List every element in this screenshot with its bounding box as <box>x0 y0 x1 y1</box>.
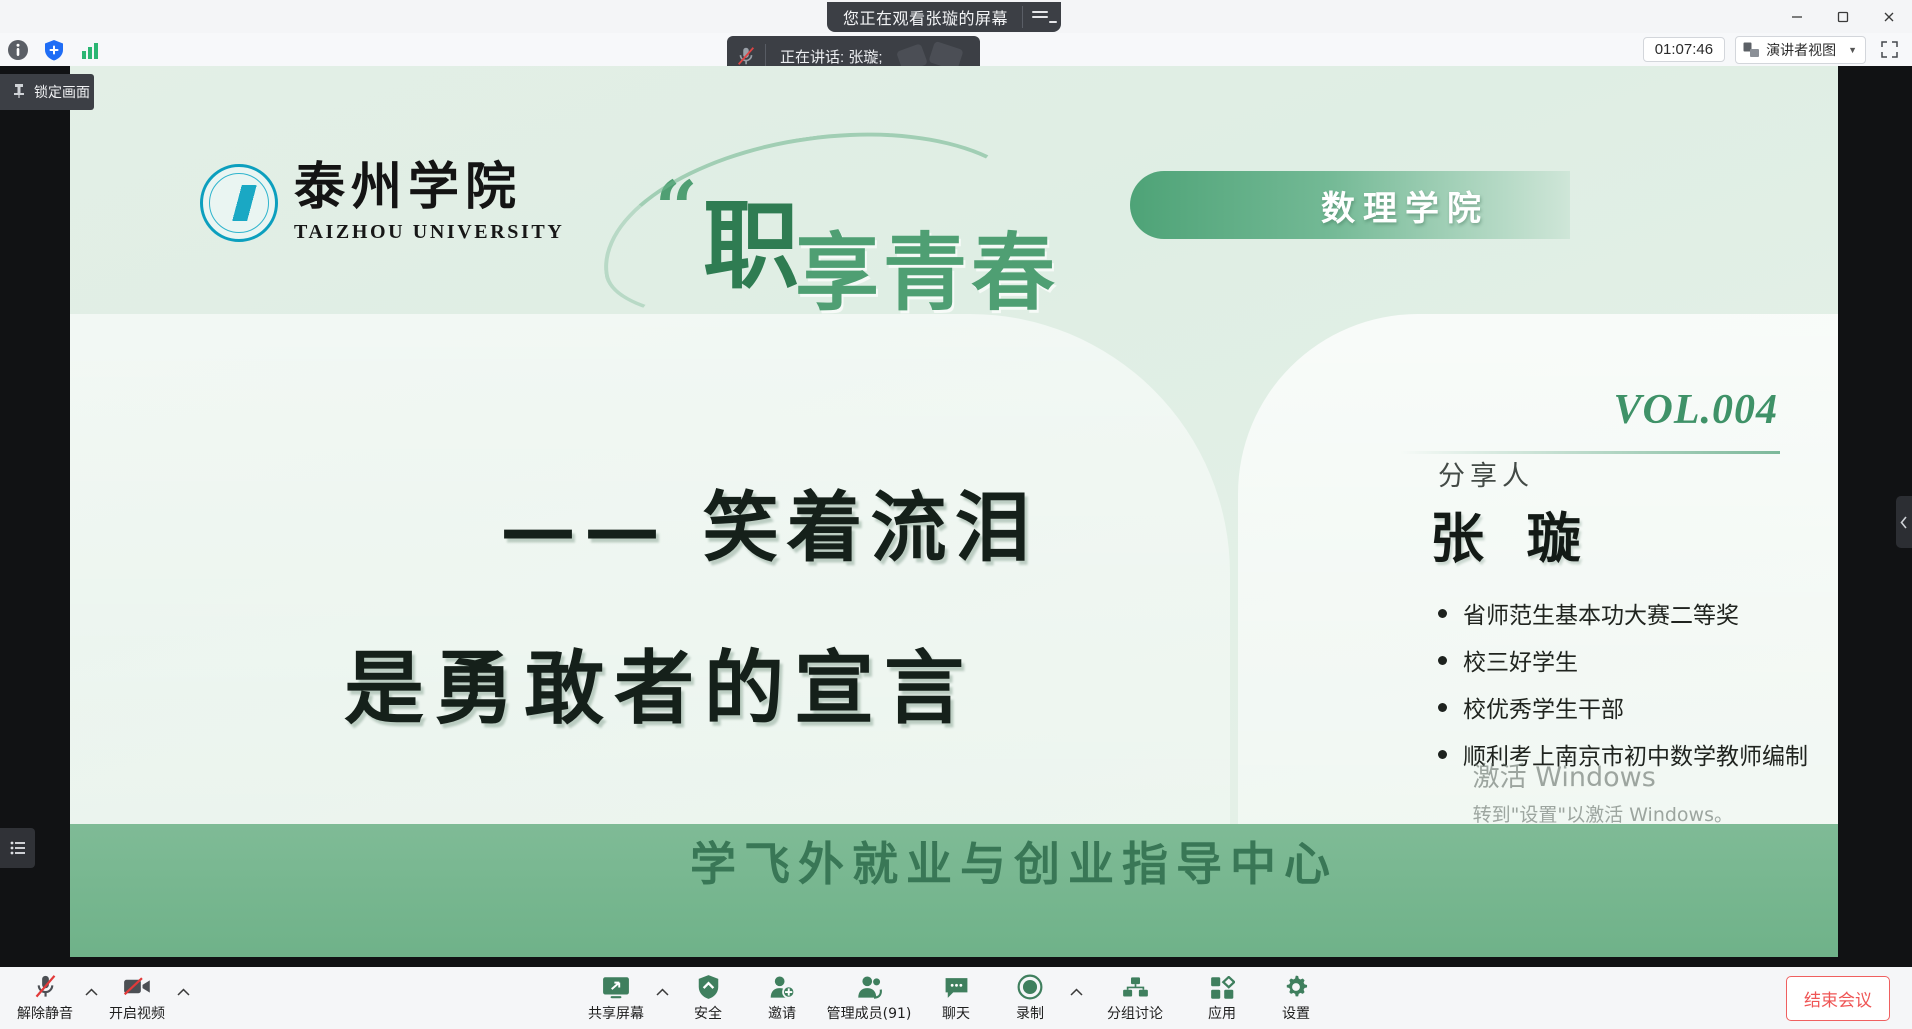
close-icon[interactable] <box>1866 0 1912 33</box>
mic-muted-icon <box>727 45 765 67</box>
control-bar-left: 解除静音 开启视频 <box>0 969 192 1027</box>
invite-person-icon <box>769 972 796 1000</box>
meeting-timer: 01:07:46 <box>1643 37 1725 62</box>
pin-icon <box>12 83 26 102</box>
college-name: 数理学院 <box>1211 181 1489 230</box>
apps-label: 应用 <box>1208 1003 1236 1023</box>
college-banner: 数理学院 <box>1130 171 1570 239</box>
share-notice-banner[interactable]: 您正在观看张璇的屏幕 <box>827 2 1061 32</box>
shared-screen-stage: 泰州学院 TAIZHOU UNIVERSITY “ 职 享青春 —— 笑着流泪 … <box>0 66 1912 967</box>
slide-decorative-blob-left <box>70 314 1230 894</box>
maximize-icon[interactable] <box>1820 0 1866 33</box>
list-panel-icon[interactable] <box>0 828 35 868</box>
settings-button[interactable]: 设置 <box>1259 969 1333 1027</box>
start-video-button[interactable]: 开启视频 <box>100 969 174 1027</box>
invite-label: 邀请 <box>768 1003 796 1023</box>
info-icon[interactable] <box>4 37 32 63</box>
toolbar-right-group: 01:07:46 演讲者视图 ▼ <box>1643 36 1912 64</box>
shield-plus-icon[interactable] <box>40 37 68 63</box>
chat-label: 聊天 <box>942 1003 970 1023</box>
list-item: 校三好学生 <box>1438 643 1808 677</box>
university-name-en: TAIZHOU UNIVERSITY <box>294 221 564 244</box>
settings-label: 设置 <box>1282 1003 1310 1023</box>
breakout-rooms-label: 分组讨论 <box>1107 1003 1163 1023</box>
view-mode-selector[interactable]: 演讲者视图 ▼ <box>1735 36 1866 64</box>
record-button[interactable]: 录制 <box>993 969 1067 1027</box>
achievements-list: 省师范生基本功大赛二等奖 校三好学生 校优秀学生干部 顺利考上南京市初中数学教师… <box>1438 596 1808 784</box>
collapse-chevron-icon[interactable] <box>1896 496 1912 548</box>
speaker-view-icon <box>1743 42 1760 58</box>
fullscreen-icon[interactable] <box>1876 37 1902 63</box>
slide-bottom-strip-text: 学飞外就业与创业指导中心 <box>690 828 1338 894</box>
participants-button[interactable]: 管理成员(91) <box>819 969 919 1027</box>
security-label: 安全 <box>694 1003 722 1023</box>
sharer-label: 分享人 <box>1438 454 1534 493</box>
signal-bars-icon[interactable] <box>76 37 104 63</box>
presentation-slide: 泰州学院 TAIZHOU UNIVERSITY “ 职 享青春 —— 笑着流泪 … <box>70 66 1838 957</box>
decorative-text-rest: 享青春 <box>795 206 1059 327</box>
share-notice-text: 您正在观看张璇的屏幕 <box>843 5 1022 29</box>
view-mode-label: 演讲者视图 <box>1766 40 1836 60</box>
slide-title-line1: —— 笑着流泪 <box>500 466 1038 576</box>
share-screen-icon <box>602 972 630 1000</box>
share-options-chevron-icon[interactable] <box>653 969 671 1027</box>
chevron-down-icon: ▼ <box>1848 45 1857 55</box>
list-item: 省师范生基本功大赛二等奖 <box>1438 596 1808 630</box>
chat-button[interactable]: 聊天 <box>919 969 993 1027</box>
share-screen-label: 共享屏幕 <box>588 1003 644 1023</box>
minimize-icon[interactable] <box>1774 0 1820 33</box>
video-muted-icon <box>123 972 152 1000</box>
speaking-label: 正在讲话: 张璇; <box>766 46 883 67</box>
slide-bottom-strip: 学飞外就业与创业指导中心 <box>70 824 1838 957</box>
sharer-name: 张 璇 <box>1430 494 1593 573</box>
start-video-label: 开启视频 <box>109 1003 165 1023</box>
mic-muted-icon <box>32 972 59 1000</box>
end-meeting-button[interactable]: 结束会议 <box>1786 976 1890 1021</box>
unmute-label: 解除静音 <box>17 1003 73 1023</box>
unmute-button[interactable]: 解除静音 <box>8 969 82 1027</box>
hamburger-menu-icon[interactable] <box>1023 3 1057 31</box>
university-seal-icon <box>200 164 278 242</box>
control-bar-center: 共享屏幕 安全 <box>579 969 1333 1027</box>
decorative-quote-mark: “ <box>655 166 698 252</box>
meeting-control-bar: 解除静音 开启视频 <box>0 967 1912 1029</box>
window-title-bar: 您正在观看张璇的屏幕 <box>0 0 1912 33</box>
apps-button[interactable]: 应用 <box>1185 969 1259 1027</box>
volume-number: VOL.004 <box>1614 386 1779 434</box>
participants-icon <box>856 972 883 1000</box>
list-item: 校优秀学生干部 <box>1438 690 1808 724</box>
decorative-headline: “ 职 享青春 <box>655 144 1115 324</box>
security-button[interactable]: 安全 <box>671 969 745 1027</box>
record-options-chevron-icon[interactable] <box>1067 969 1085 1027</box>
window-controls <box>1774 0 1912 33</box>
university-name-cn: 泰州学院 <box>294 162 564 213</box>
video-options-chevron-icon[interactable] <box>174 969 192 1027</box>
decorative-char-zhi: 职 <box>703 168 799 307</box>
university-logo-block: 泰州学院 TAIZHOU UNIVERSITY <box>200 162 564 244</box>
audio-options-chevron-icon[interactable] <box>82 969 100 1027</box>
breakout-rooms-icon <box>1122 972 1149 1000</box>
control-bar-right: 结束会议 <box>1786 976 1912 1021</box>
invite-button[interactable]: 邀请 <box>745 969 819 1027</box>
slide-title-line2: 是勇敢者的宣言 <box>344 624 974 740</box>
record-circle-icon <box>1017 972 1043 1000</box>
record-label: 录制 <box>1016 1003 1044 1023</box>
toolbar-left-group <box>0 37 104 63</box>
lock-screen-tooltip[interactable]: 锁定画面 <box>0 74 94 110</box>
gear-icon <box>1283 972 1309 1000</box>
share-screen-button[interactable]: 共享屏幕 <box>579 969 653 1027</box>
security-shield-icon <box>696 972 721 1000</box>
lock-screen-label: 锁定画面 <box>34 82 90 102</box>
participants-label: 管理成员(91) <box>827 1003 912 1023</box>
breakout-rooms-button[interactable]: 分组讨论 <box>1085 969 1185 1027</box>
list-item: 顺利考上南京市初中数学教师编制 <box>1438 737 1808 771</box>
apps-grid-icon <box>1210 972 1235 1000</box>
chat-bubble-icon <box>943 972 970 1000</box>
